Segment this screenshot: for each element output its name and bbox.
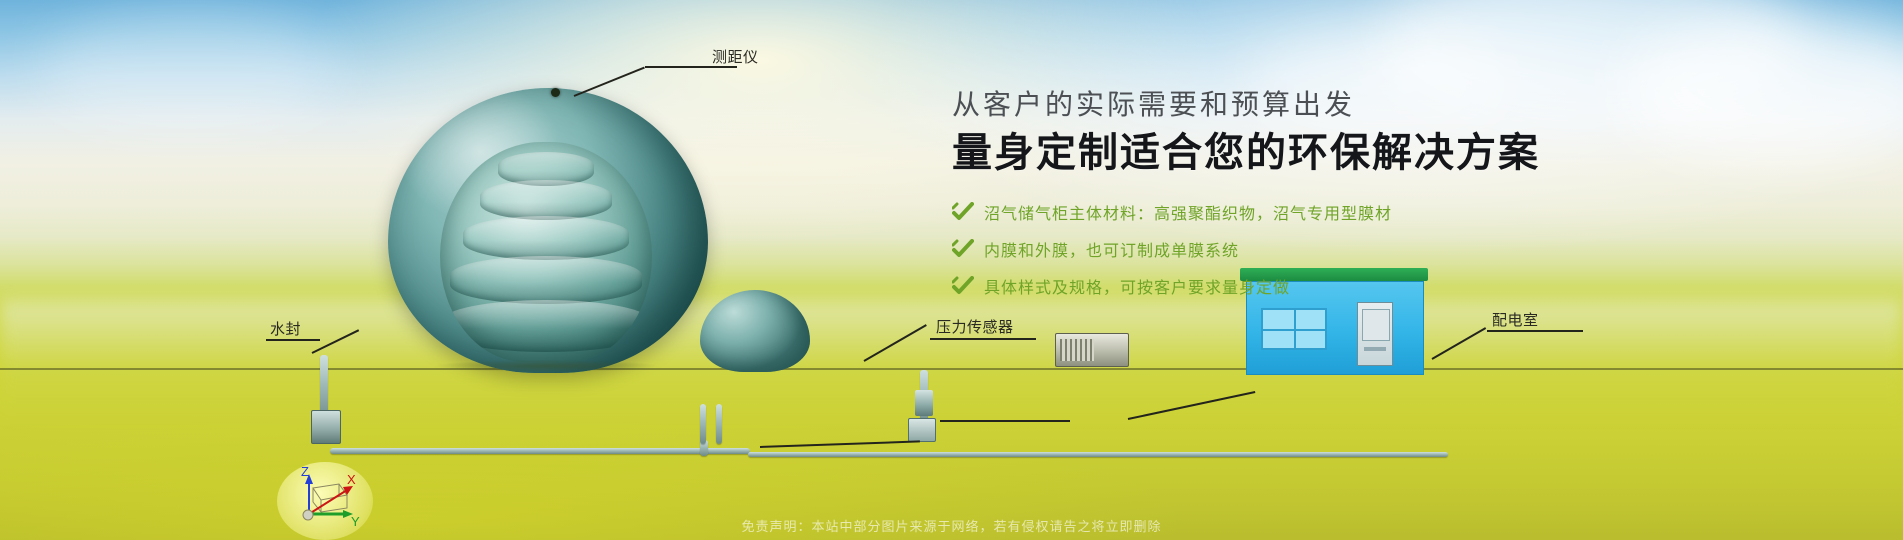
check-mark-icon (952, 276, 974, 296)
cabinet-display-panel (1362, 309, 1390, 341)
dome-ring (463, 216, 629, 260)
compressor-fins (1060, 339, 1094, 361)
disclaimer-text: 免责声明：本站中部分图片来源于网络，若有侵权请告之将立即删除 (0, 516, 1903, 535)
pipe-riser (700, 404, 706, 444)
feature-list: 沼气储气柜主体材料：高强聚酯织物，沼气专用型膜材 内膜和外膜，也可订制成单膜系统… (952, 200, 1712, 298)
dome-base-shadow (396, 358, 702, 374)
sensor-base (908, 418, 936, 442)
list-item: 具体样式及规格，可按客户要求量身定做 (952, 274, 1712, 298)
list-item: 内膜和外膜，也可订制成单膜系统 (952, 237, 1712, 261)
pipe-riser (716, 404, 722, 444)
underground-pipe (330, 448, 750, 454)
hero-title: 量身定制适合您的环保解决方案 (952, 128, 1712, 178)
hero-subtitle: 从客户的实际需要和预算出发 (952, 88, 1712, 122)
gas-holder-dome (388, 88, 708, 373)
list-item-label: 内膜和外膜，也可订制成单膜系统 (984, 237, 1239, 261)
leader-line-pressure-sensor (930, 338, 1036, 340)
check-mark-icon (952, 202, 974, 222)
cloud-decoration (40, 10, 340, 130)
label-power-room: 配电室 (1492, 309, 1539, 330)
water-seal-unit (311, 410, 341, 444)
list-item: 沼气储气柜主体材料：高强聚酯织物，沼气专用型膜材 (952, 200, 1712, 224)
dome-apex-sensor (551, 88, 560, 97)
svg-text:Z: Z (301, 464, 309, 479)
compressor-unit (1055, 333, 1129, 367)
dome-ring (450, 256, 642, 304)
pressure-valve (915, 390, 933, 416)
list-item-label: 具体样式及规格，可按客户要求量身定做 (984, 274, 1290, 298)
svg-text:X: X (347, 472, 356, 487)
label-water-seal: 水封 (270, 318, 301, 339)
label-rangefinder: 测距仪 (712, 46, 759, 67)
ground-line (0, 368, 1903, 370)
hut-control-cabinet (1357, 302, 1393, 366)
check-mark-icon (952, 239, 974, 259)
hero-copy: 从客户的实际需要和预算出发 量身定制适合您的环保解决方案 沼气储气柜主体材料：高… (952, 88, 1712, 311)
leader-line-water-seal (266, 339, 320, 341)
cabinet-handle (1364, 347, 1386, 351)
dome-ring (480, 180, 612, 220)
surface-pipe (748, 452, 1448, 457)
dome-inner-membrane (440, 142, 652, 362)
hut-window (1261, 308, 1327, 350)
dome-ring (442, 300, 650, 352)
list-item-label: 沼气储气柜主体材料：高强聚酯织物，沼气专用型膜材 (984, 200, 1392, 224)
cable-run (940, 420, 1070, 422)
leader-line-power-room (1487, 330, 1583, 332)
hero-banner: 测距仪 水封 压力传感器 (0, 0, 1903, 540)
label-pressure-sensor: 压力传感器 (936, 316, 1014, 337)
